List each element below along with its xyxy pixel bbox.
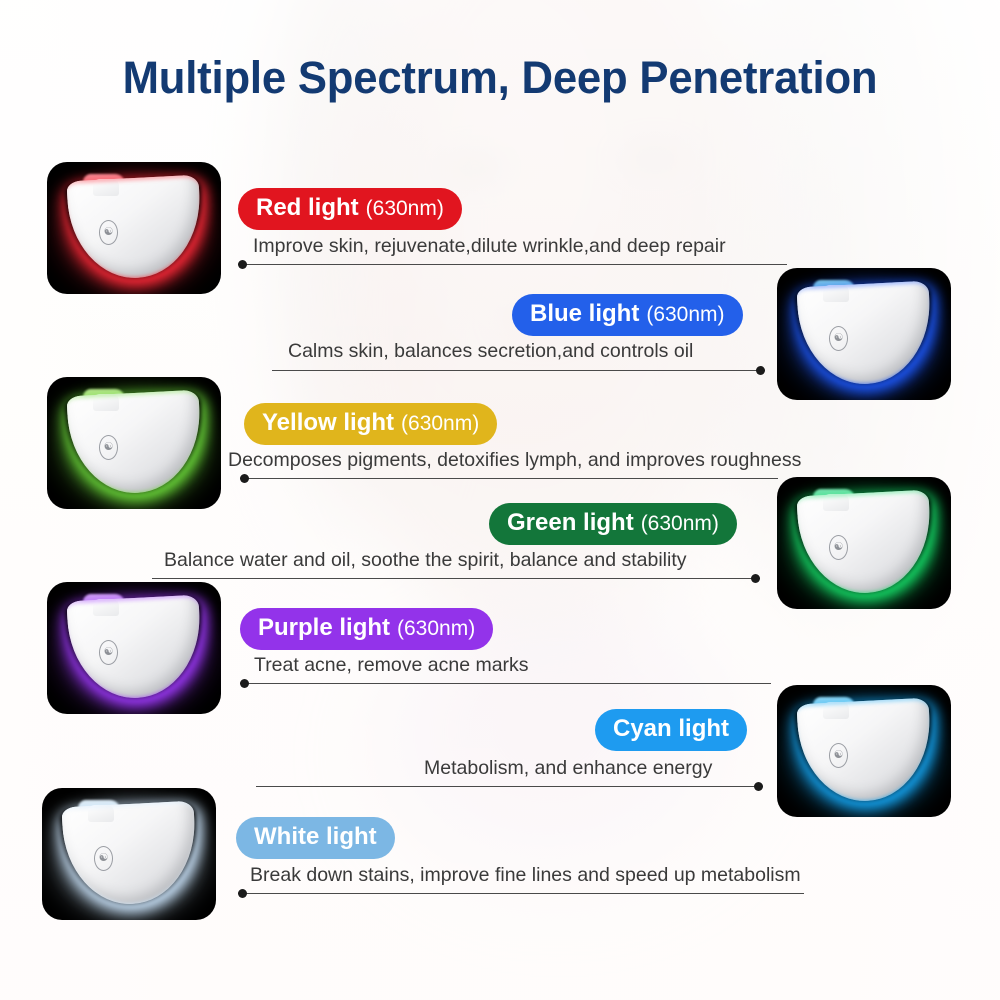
product-thumbnail-white[interactable]: ☯ [42, 788, 216, 920]
light-description-purple: Treat acne, remove acne marks [254, 654, 529, 677]
light-name-cyan: Cyan light [613, 715, 729, 743]
brand-logo-icon: ☯ [829, 535, 848, 560]
product-thumbnail-yellow[interactable]: ☯ [47, 377, 221, 509]
product-thumbnail-cyan[interactable]: ☯ [777, 685, 951, 817]
connector-dot [238, 889, 247, 898]
connector-line-blue [272, 366, 765, 375]
light-name-yellow: Yellow light [262, 409, 394, 437]
connector-rule [272, 370, 765, 371]
brand-logo-icon: ☯ [829, 743, 848, 768]
connector-line-red [238, 260, 787, 269]
label-pill-white: White light [236, 817, 395, 859]
light-description-green: Balance water and oil, soothe the spirit… [164, 549, 686, 572]
label-pill-cyan: Cyan light [595, 709, 747, 751]
connector-rule [238, 893, 804, 894]
page-title: Multiple Spectrum, Deep Penetration [15, 52, 985, 104]
light-description-cyan: Metabolism, and enhance energy [424, 757, 712, 780]
light-description-yellow: Decomposes pigments, detoxifies lymph, a… [228, 449, 801, 472]
brand-logo-icon: ☯ [99, 220, 118, 245]
connector-dot [240, 474, 249, 483]
label-pill-purple: Purple light(630nm) [240, 608, 493, 650]
connector-rule [240, 478, 778, 479]
connector-rule [256, 786, 763, 787]
connector-dot [240, 679, 249, 688]
label-pill-red: Red light(630nm) [238, 188, 462, 230]
light-wavelength-green: (630nm) [641, 512, 719, 536]
product-thumbnail-purple[interactable]: ☯ [47, 582, 221, 714]
brand-logo-icon: ☯ [99, 435, 118, 460]
connector-dot [756, 366, 765, 375]
light-name-purple: Purple light [258, 614, 390, 642]
label-pill-green: Green light(630nm) [489, 503, 737, 545]
light-wavelength-purple: (630nm) [397, 617, 475, 641]
light-name-red: Red light [256, 194, 359, 222]
light-description-blue: Calms skin, balances secretion,and contr… [288, 340, 693, 363]
connector-line-white [238, 889, 804, 898]
connector-rule [238, 264, 787, 265]
brand-logo-icon: ☯ [94, 846, 113, 871]
light-description-red: Improve skin, rejuvenate,dilute wrinkle,… [253, 235, 726, 258]
connector-line-yellow [240, 474, 778, 483]
connector-rule [240, 683, 771, 684]
light-name-green: Green light [507, 509, 634, 537]
label-pill-blue: Blue light(630nm) [512, 294, 743, 336]
light-description-white: Break down stains, improve fine lines an… [250, 864, 801, 887]
product-thumbnail-blue[interactable]: ☯ [777, 268, 951, 400]
product-thumbnail-red[interactable]: ☯ [47, 162, 221, 294]
light-wavelength-blue: (630nm) [646, 303, 724, 327]
connector-dot [754, 782, 763, 791]
light-wavelength-red: (630nm) [366, 197, 444, 221]
connector-line-green [152, 574, 760, 583]
connector-line-purple [240, 679, 771, 688]
connector-rule [152, 578, 760, 579]
light-name-blue: Blue light [530, 300, 639, 328]
light-wavelength-yellow: (630nm) [401, 412, 479, 436]
connector-line-cyan [256, 782, 763, 791]
product-thumbnail-green[interactable]: ☯ [777, 477, 951, 609]
brand-logo-icon: ☯ [99, 640, 118, 665]
brand-logo-icon: ☯ [829, 326, 848, 351]
connector-dot [238, 260, 247, 269]
light-name-white: White light [254, 823, 377, 851]
connector-dot [751, 574, 760, 583]
label-pill-yellow: Yellow light(630nm) [244, 403, 497, 445]
